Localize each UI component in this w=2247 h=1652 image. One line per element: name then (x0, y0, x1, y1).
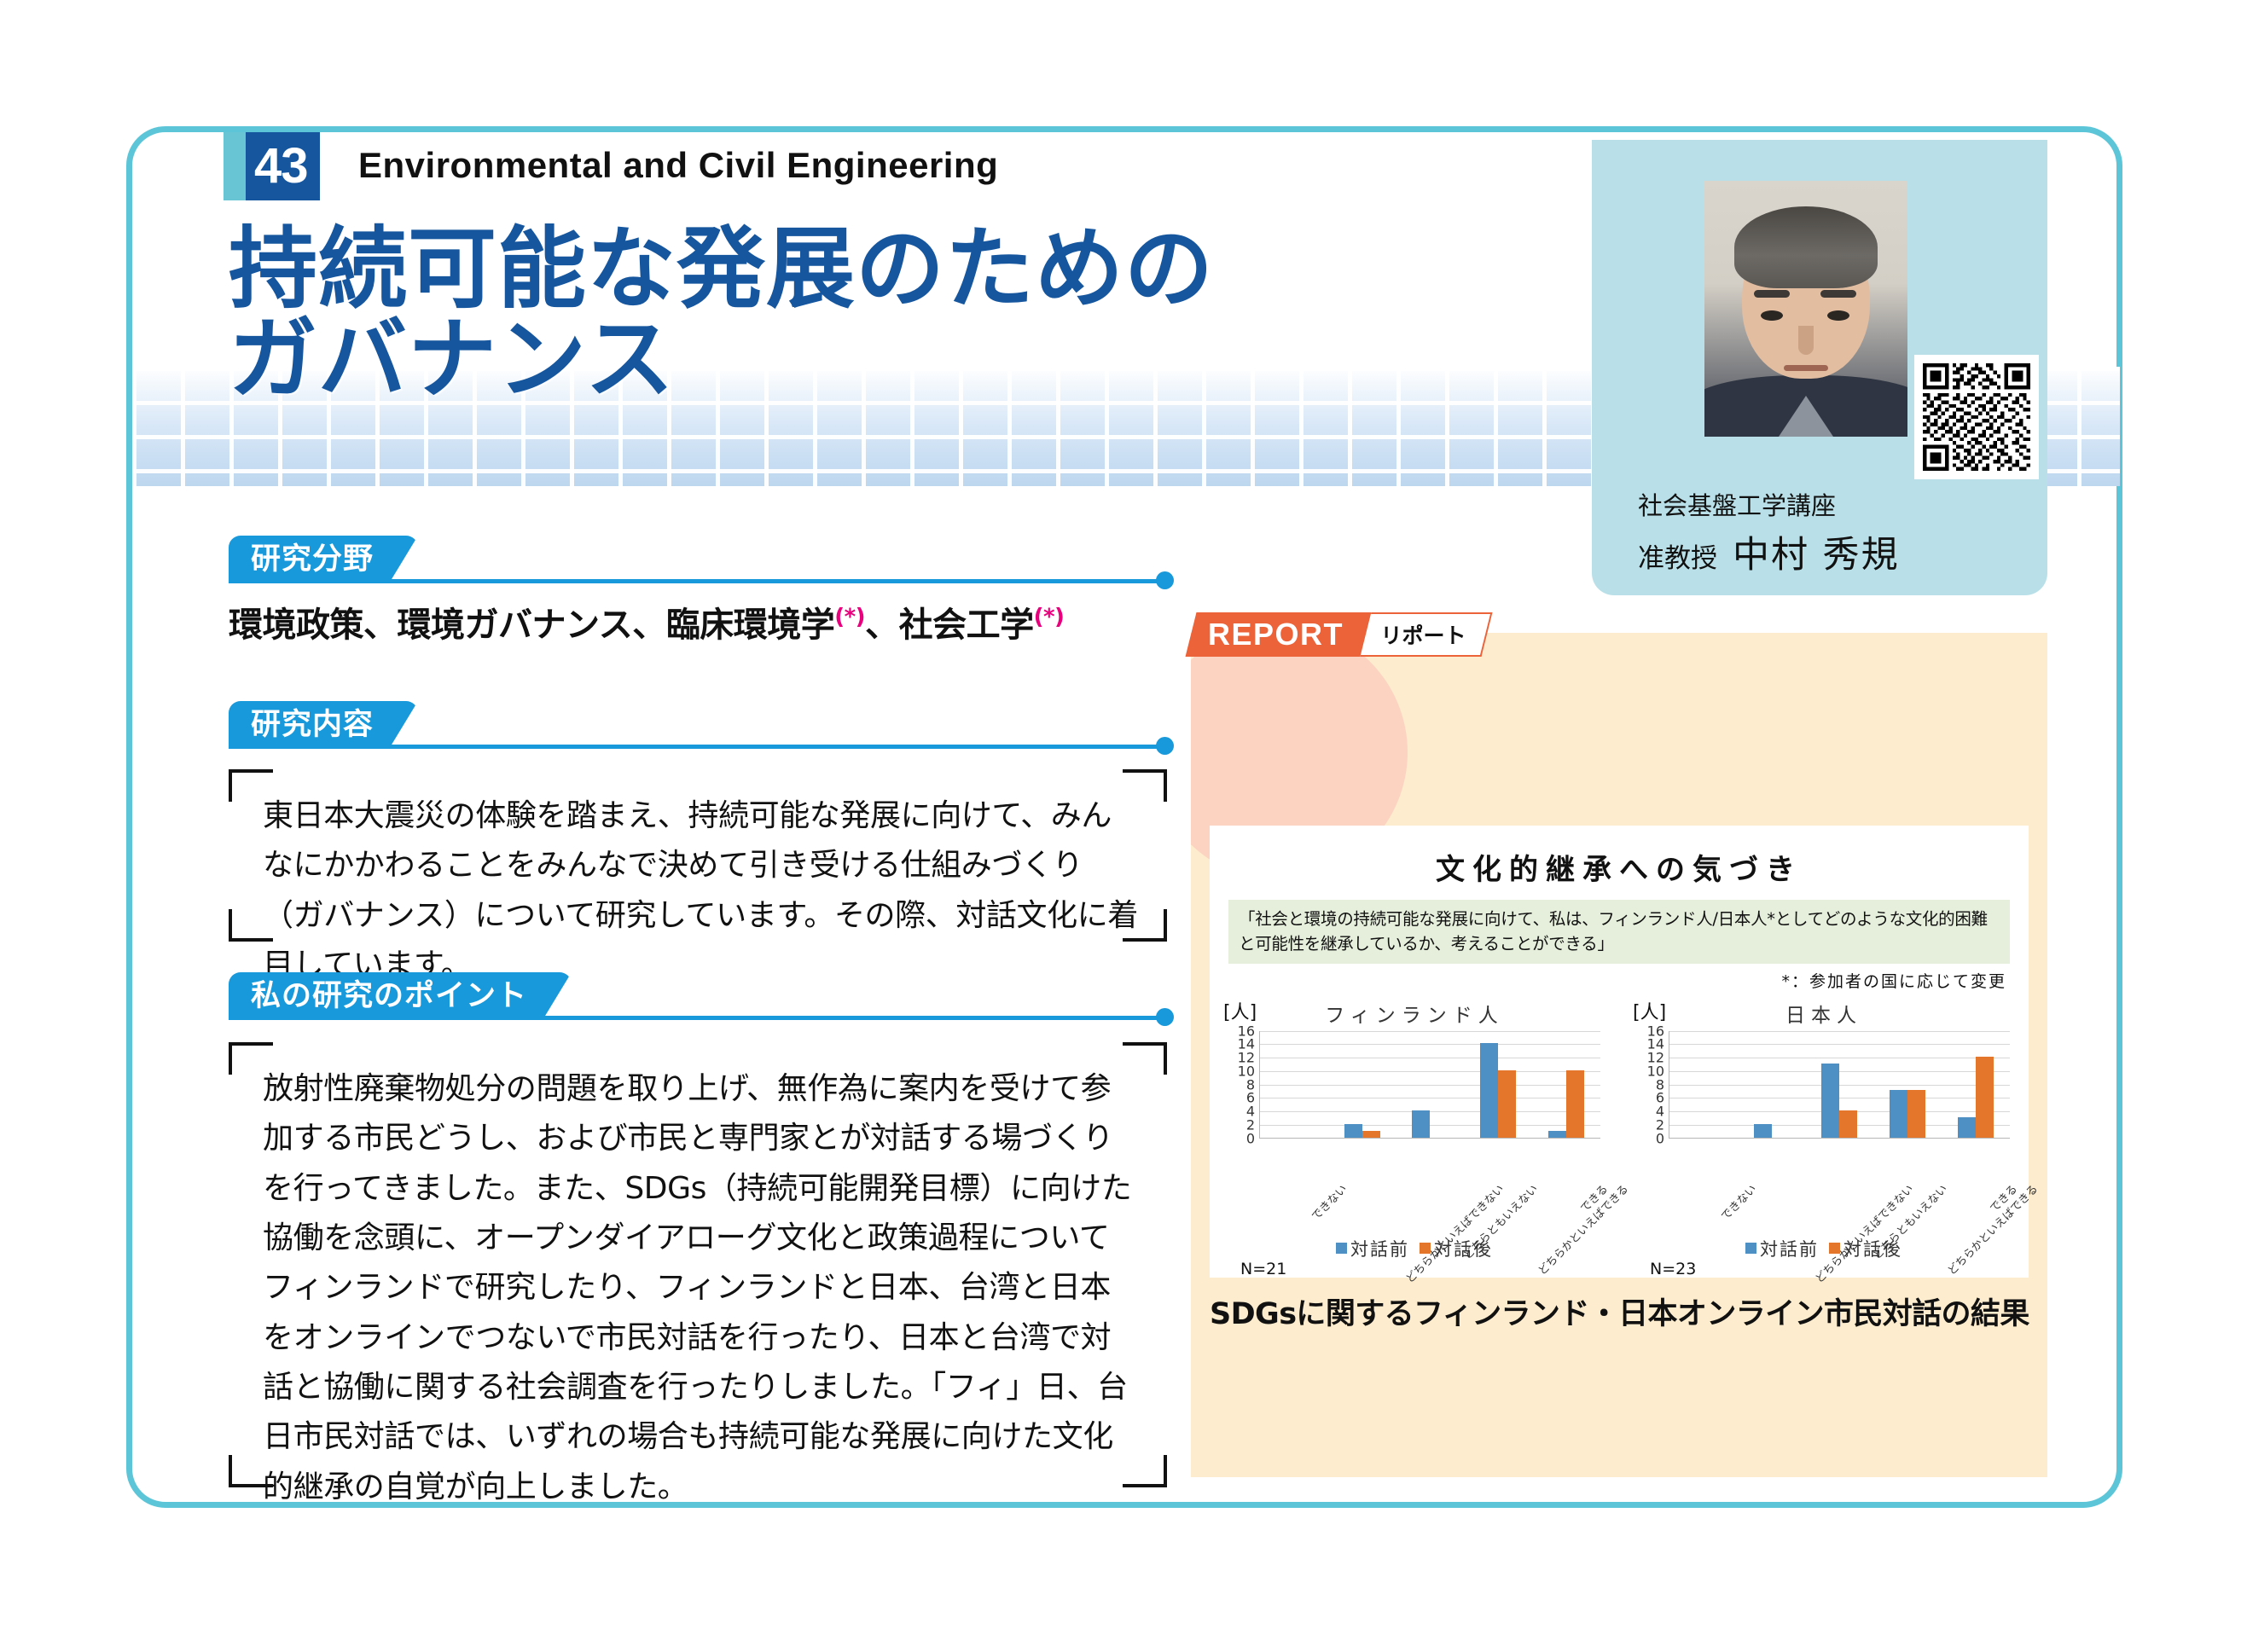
bar-対話前-3 (1958, 1117, 1976, 1138)
photo-mouth (1784, 365, 1828, 371)
bar-group: できる (1942, 1031, 2010, 1138)
bar-group: できない (1669, 1031, 1738, 1138)
photo-eyebrow-left (1754, 290, 1790, 298)
section-content-label: 研究内容 (229, 701, 418, 749)
professor-department: 社会基盤工学講座 (1638, 486, 1836, 522)
report-tab: REPORT リポート (1191, 612, 1487, 657)
chart-panel-0: [人]フィンランド人0246810121416できないどちらかといえばできないど… (1210, 995, 1619, 1277)
chart-panel-1: [人]日本人0246810121416できないどちらかといえばできないどちらとも… (1619, 995, 2029, 1277)
bar-group: どちらかといえばできる (1873, 1031, 1942, 1138)
bracket-frame (229, 769, 1167, 942)
bar-対話前-2 (1344, 1124, 1362, 1138)
bar-groups: できないどちらかといえばできないどちらともいえないどちらかといえばできるできる (1260, 1031, 1600, 1138)
chart-footnote: *：参加者の国に応じて変更 (1210, 969, 2006, 992)
report-tab-en-label: REPORT (1208, 612, 1344, 657)
photo-nose (1798, 326, 1814, 355)
chart-plot-area: 0246810121416できないどちらかといえばできないどちらともいえないどち… (1259, 1031, 1600, 1139)
research-content-box: 東日本大震災の体験を踏まえ、持続可能な発展に向けて、みんなにかかわることをみんな… (229, 769, 1167, 942)
section-points-heading: 私の研究のポイント (229, 972, 1167, 1020)
section-points-label: 私の研究のポイント (229, 972, 572, 1020)
bar-group: どちらともいえない (1806, 1031, 1874, 1138)
page-title: 持続可能な発展のための ガバナンス (229, 223, 1214, 404)
bar-group: どちらかといえばできない (1738, 1031, 1806, 1138)
photo-eye-right (1827, 310, 1849, 321)
legend-swatch-対話後 (1829, 1243, 1840, 1254)
section-field-label: 研究分野 (229, 536, 418, 583)
bar-対話後-1 (1362, 1131, 1380, 1138)
photo-eyebrow-right (1820, 290, 1856, 298)
article-number-badge: 43 (224, 132, 320, 200)
professor-rank: 准教授 (1638, 536, 1717, 575)
report-caption: SDGsに関するフィンランド・日本オンライン市民対話の結果 (1210, 1290, 2046, 1333)
y-axis-tick: 16 (1647, 1023, 1664, 1039)
photo-hair (1734, 206, 1878, 288)
x-axis-label: できない (1307, 1180, 1350, 1223)
legend-swatch-対話前 (1745, 1243, 1756, 1254)
x-axis-label: どちらかといえばできる (1943, 1180, 2041, 1278)
bar-group: どちらかといえばできない (1328, 1031, 1396, 1138)
chart-card: 文化的継承への気づき 「社会と環境の持続可能な発展に向けて、私は、フィンランド人… (1210, 826, 2029, 1278)
section-content-heading: 研究内容 (229, 701, 1167, 749)
bar-groups: できないどちらかといえばできないどちらともいえないどちらかといえばできるできる (1669, 1031, 2010, 1138)
chart-panel-title: フィンランド人 (1210, 999, 1619, 1028)
badge-teal-stripe (224, 132, 246, 200)
chart-legend: 対話前対話後 (1210, 1236, 1619, 1261)
section-dot (1156, 737, 1174, 755)
chart-subtitle-quote: 「社会と環境の持続可能な発展に向けて、私は、フィンランド人/日本人*としてどのよ… (1228, 900, 2010, 964)
research-field-text: 環境政策、環境ガバナンス、臨床環境学(*)、社会工学(*) (229, 597, 1064, 646)
research-points-box: 放射性廃棄物処分の問題を取り上げ、無作為に案内を受けて参加する市民どうし、および… (229, 1042, 1167, 1487)
chart-title: 文化的継承への気づき (1210, 846, 2029, 888)
bar-対話前-2 (1754, 1124, 1772, 1138)
photo-eye-left (1761, 310, 1783, 321)
professor-name: 中村 秀規 (1733, 525, 1900, 578)
section-dot (1156, 571, 1174, 589)
asterisk-mark-2: (*) (1034, 605, 1065, 630)
bar-対話後-7 (1907, 1090, 1925, 1137)
professor-photo (1704, 181, 1907, 437)
asterisk-mark-1: (*) (834, 605, 865, 630)
legend-label: 対話後 (1434, 1236, 1493, 1261)
bar-対話前-11 (1821, 1064, 1839, 1138)
chart-legend: 対話前対話後 (1619, 1236, 2029, 1261)
bar-対話前-4 (1412, 1110, 1430, 1138)
section-dot (1156, 1008, 1174, 1026)
y-axis-tick: 16 (1238, 1023, 1255, 1039)
legend-label: 対話後 (1843, 1236, 1902, 1261)
bar-対話後-10 (1498, 1070, 1516, 1138)
section-field-heading: 研究分野 (229, 536, 1167, 583)
bracket-frame (229, 1042, 1167, 1487)
article-number: 43 (246, 132, 320, 200)
legend-label: 対話前 (1760, 1236, 1819, 1261)
chart-plot-area: 0246810121416できないどちらかといえばできないどちらともいえないどち… (1669, 1031, 2010, 1139)
bar-対話前-7 (1890, 1090, 1907, 1137)
bar-group: できる (1532, 1031, 1600, 1138)
bar-group: できない (1260, 1031, 1328, 1138)
bar-group: どちらかといえばできる (1464, 1031, 1532, 1138)
bar-group: どちらともいえない (1396, 1031, 1465, 1138)
professor-name-row: 准教授 中村 秀規 (1638, 525, 1900, 578)
report-tab-jp: リポート (1361, 612, 1493, 657)
qr-code-svg (1923, 363, 2030, 471)
qr-code-icon[interactable] (1914, 355, 2039, 479)
sample-size-label: N=21 (1240, 1260, 1286, 1278)
bar-対話後-4 (1839, 1110, 1857, 1138)
bar-対話後-12 (1976, 1057, 1994, 1138)
x-axis-label: できない (1716, 1180, 1759, 1223)
bar-対話前-1 (1548, 1131, 1566, 1138)
legend-swatch-対話後 (1420, 1243, 1431, 1254)
bar-対話前-14 (1480, 1043, 1498, 1137)
report-tab-jp-label: リポート (1381, 614, 1466, 658)
legend-swatch-対話前 (1336, 1243, 1347, 1254)
report-tab-en: REPORT (1186, 612, 1372, 657)
sample-size-label: N=23 (1650, 1260, 1696, 1278)
charts-row: [人]フィンランド人0246810121416できないどちらかといえばできないど… (1210, 995, 2029, 1277)
category-label: Environmental and Civil Engineering (358, 145, 998, 186)
chart-panel-title: 日本人 (1619, 999, 2029, 1028)
legend-label: 対話前 (1350, 1236, 1409, 1261)
x-axis-label: どちらかといえばできる (1534, 1180, 1631, 1278)
bar-対話後-10 (1566, 1070, 1584, 1138)
